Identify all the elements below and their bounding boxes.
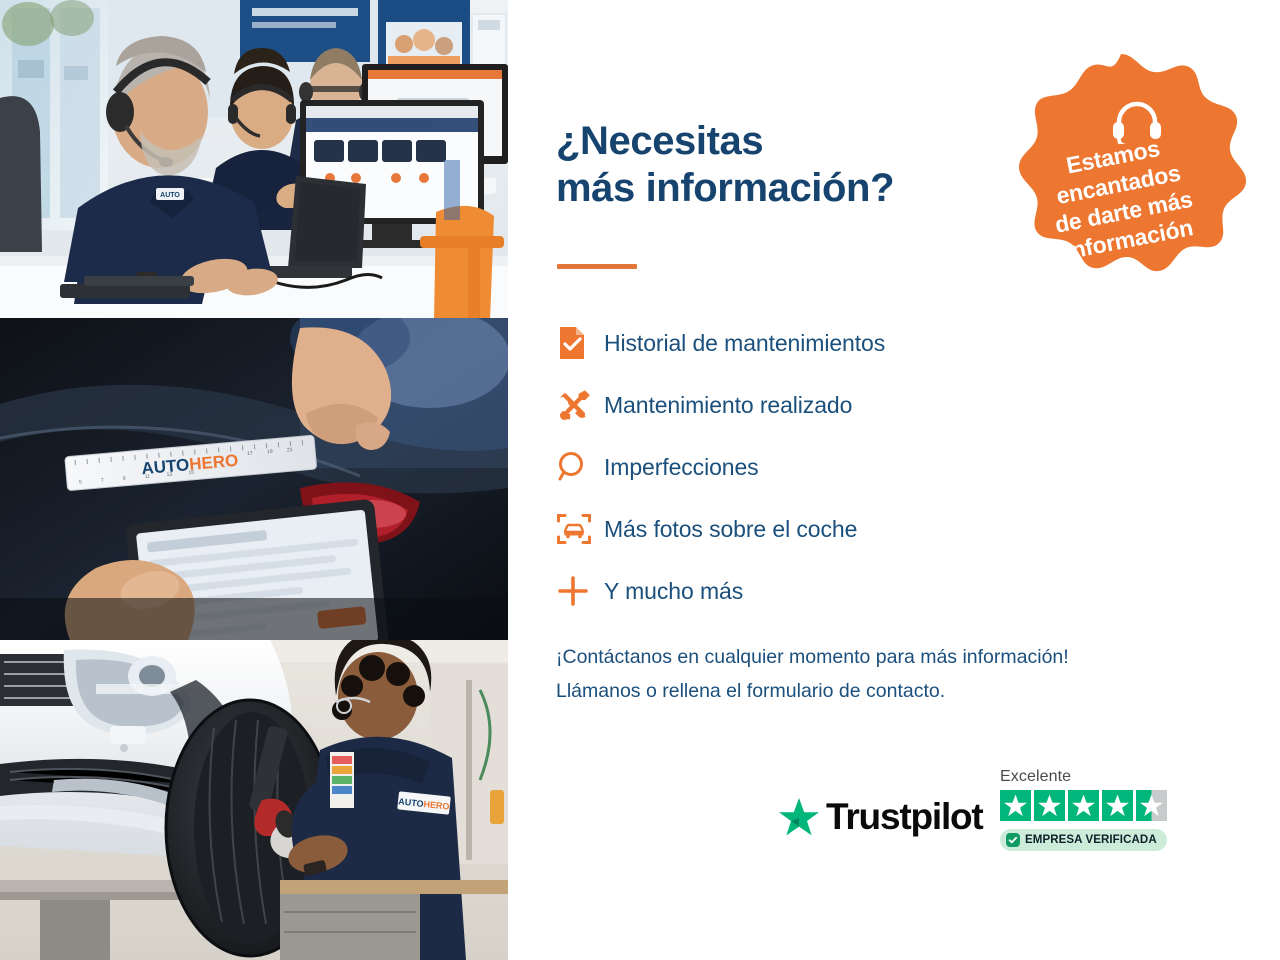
document-check-icon [556, 321, 604, 365]
content-panel: ¿Necesitas más información? Historial de… [508, 0, 1280, 960]
autohero-info-banner: AUTO [0, 0, 1280, 960]
contact-line-2: Llámanos o rellena el formulario de cont… [556, 674, 1256, 708]
contact-paragraph: ¡Contáctanos en cualquier momento para m… [556, 640, 1256, 708]
feature-item-mas-fotos: Más fotos sobre el coche [556, 498, 1176, 560]
trustpilot-rating: Excelente EMPRESA VERIFICADA [1000, 768, 1200, 852]
rating-label: Excelente [1000, 768, 1200, 786]
trustpilot-wordmark: Trustpilot [826, 796, 983, 838]
plus-icon [556, 569, 604, 613]
car-inspection-ruler-photo: 579 111315 171921 AUTOHERO [0, 318, 508, 640]
star-3 [1068, 790, 1099, 821]
magnifier-icon [556, 445, 604, 489]
svg-text:AUTO: AUTO [160, 192, 180, 199]
star-rating [1000, 790, 1200, 821]
page-title: ¿Necesitas más información? [556, 118, 894, 212]
feature-label: Imperfecciones [604, 454, 759, 481]
photo-column: AUTO [0, 0, 508, 960]
star-5-half [1136, 790, 1167, 821]
trustpilot-widget[interactable]: Trustpilot Excelente [778, 768, 1198, 888]
svg-text:21: 21 [287, 447, 293, 453]
feature-item-imperfecciones: Imperfecciones [556, 436, 1176, 498]
star-2 [1034, 790, 1065, 821]
car-scan-frame-icon [556, 507, 604, 551]
info-badge: Estamos encantados de darte más informac… [986, 46, 1256, 326]
feature-label: Y mucho más [604, 578, 743, 605]
contact-line-1: ¡Contáctanos en cualquier momento para m… [556, 640, 1256, 674]
feature-label: Más fotos sobre el coche [604, 516, 857, 543]
star-1 [1000, 790, 1031, 821]
trustpilot-logo[interactable]: Trustpilot [778, 796, 983, 838]
workshop-tire-change-photo: AUTOHERO [0, 640, 508, 960]
verified-company-badge: EMPRESA VERIFICADA [1000, 829, 1167, 851]
tools-wrench-screwdriver-icon [556, 383, 604, 427]
call-center-agents-photo: AUTO [0, 0, 508, 318]
title-divider [557, 264, 637, 269]
verified-label: EMPRESA VERIFICADA [1025, 834, 1157, 846]
feature-item-mucho-mas: Y mucho más [556, 560, 1176, 622]
check-circle-icon [1006, 833, 1020, 847]
star-4 [1102, 790, 1133, 821]
feature-item-mantenimiento: Mantenimiento realizado [556, 374, 1176, 436]
svg-text:17: 17 [247, 450, 253, 456]
feature-list: Historial de mantenimientos [556, 312, 1176, 622]
feature-label: Historial de mantenimientos [604, 330, 885, 357]
feature-label: Mantenimiento realizado [604, 392, 852, 419]
svg-text:19: 19 [267, 449, 273, 455]
trustpilot-star-icon [778, 796, 820, 838]
